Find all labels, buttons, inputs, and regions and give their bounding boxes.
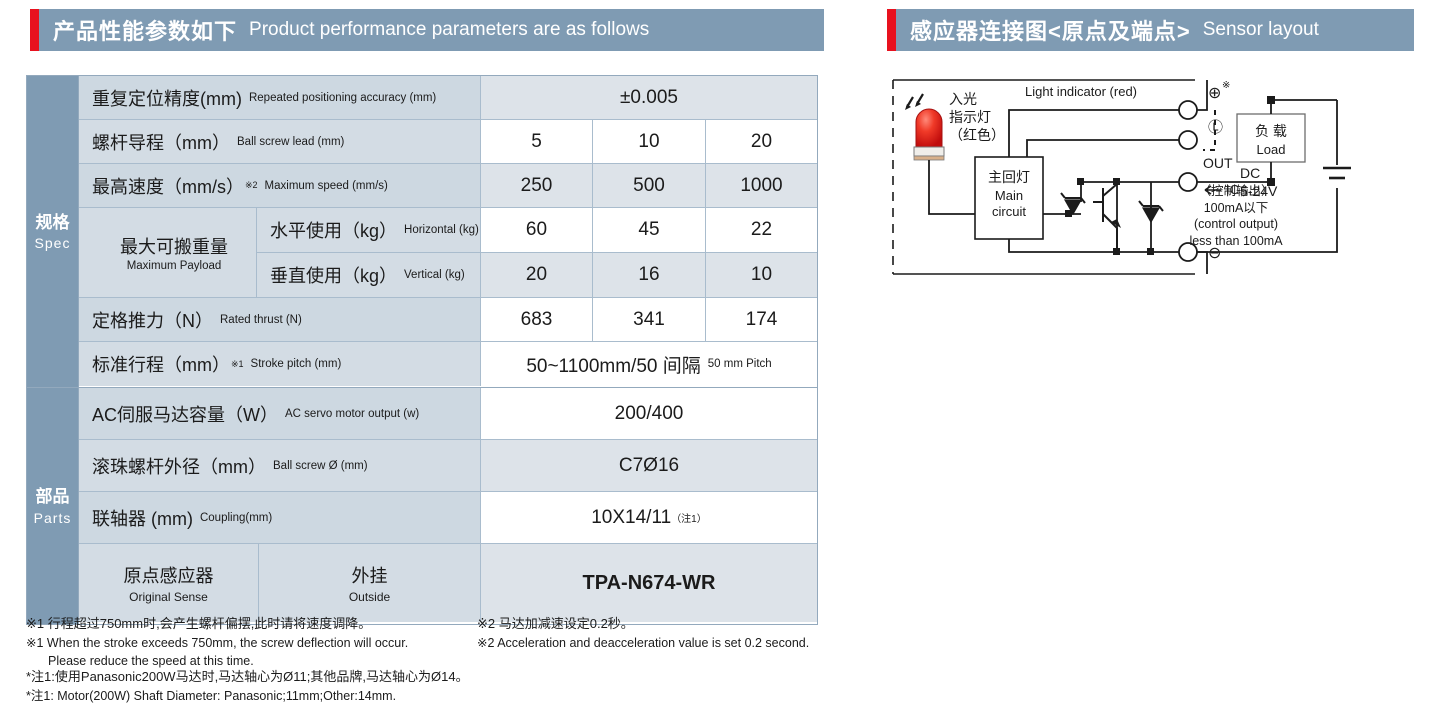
label-cn: 螺杆导程（mm） — [92, 129, 230, 155]
label-cn: 垂直使用（kg） — [270, 262, 397, 288]
table-row: 重复定位精度(mm) Repeated positioning accuracy… — [79, 76, 817, 120]
label-cn: 外挂 — [352, 562, 388, 588]
row-value-cell: 60 — [481, 208, 593, 253]
junction-dot — [1113, 178, 1120, 185]
label-cn: 定格推力（N） — [92, 307, 213, 333]
terminal-plus — [1179, 101, 1197, 119]
row-label-max-speed: 最高速度（mm/s）※2 Maximum speed (mm/s) — [79, 164, 481, 208]
row-value-cell: 20 — [706, 120, 817, 164]
row-value-cell: 174 — [706, 298, 817, 342]
control-note-line1: （控制输出） — [1173, 183, 1299, 200]
control-note-line3: (control output) — [1173, 216, 1299, 233]
row-value-cell: 20 — [481, 253, 593, 298]
label-en: Coupling(mm) — [200, 512, 272, 524]
section-label-parts-en: Parts — [34, 510, 72, 526]
row-value-cell: 250 — [481, 164, 593, 208]
row-value-cell: 10 — [706, 253, 817, 298]
load-label-en: Load — [1257, 142, 1286, 157]
table-row: 联轴器 (mm) Coupling(mm) 10X14/11（注1） — [79, 492, 817, 544]
label-cn: 标准行程（mm） — [92, 351, 230, 377]
row-label-coupling: 联轴器 (mm) Coupling(mm) — [79, 492, 481, 544]
red-accent-bar — [30, 9, 39, 51]
section-header-right: 感应器连接图<原点及端点> Sensor layout — [887, 9, 1414, 51]
section-header-right-en: Sensor layout — [1203, 19, 1319, 41]
light-indicator-label: Light indicator (red) — [1025, 84, 1137, 99]
sensor-circuit-diagram: 主回灯 Main circuit 入光 指示灯 （红色） Light indic… — [885, 62, 1355, 287]
section-header-right-cn: 感应器连接图<原点及端点> — [910, 14, 1191, 46]
label-cn: 滚珠螺杆外径（mm） — [92, 453, 266, 479]
terminal-l — [1179, 131, 1197, 149]
footnote-line: ※2 马达加减速设定0.2秒。 — [477, 615, 809, 634]
footnote-marker: ※2 — [245, 180, 258, 191]
row-label-stroke-pitch: 标准行程（mm）※1 Stroke pitch (mm) — [79, 342, 481, 386]
section-header-left-en: Product performance parameters are as fo… — [249, 19, 649, 41]
load-label-cn: 负 载 — [1255, 123, 1287, 139]
row-label-original-sense: 原点感应器 Original Sense — [79, 544, 259, 622]
table-row: 螺杆导程（mm） Ball screw lead (mm) 5 10 20 — [79, 120, 817, 164]
footnote-line: ※1 When the stroke exceeds 750mm, the sc… — [26, 634, 408, 652]
footnote-marker: ※1 — [231, 359, 244, 370]
spec-section: 规格 Spec 重复定位精度(mm) Repeated positioning … — [27, 76, 817, 387]
led-label-line3: （红色） — [949, 127, 1005, 143]
subrow-label-horizontal: 水平使用（kg） Horizontal (kg) — [257, 208, 481, 253]
control-note-line2: 100mA以下 — [1173, 200, 1299, 217]
section-label-spec: 规格 Spec — [27, 76, 79, 387]
dc-label-line1: DC — [1240, 165, 1277, 183]
value-cn: 50~1100mm/50 间隔 — [526, 351, 700, 378]
dc-source-icon — [1323, 168, 1351, 178]
control-note-line4: less than 100mA — [1173, 233, 1299, 250]
footnote-line: ※2 Acceleration and deacceleration value… — [477, 634, 809, 652]
section-label-spec-cn: 规格 — [36, 212, 70, 233]
label-en: Ball screw lead (mm) — [237, 136, 344, 148]
label-en: Original Sense — [129, 590, 208, 604]
row-value-cell: 500 — [593, 164, 706, 208]
parts-section: 部品 Parts AC伺服马达容量（W） AC servo motor outp… — [27, 387, 817, 624]
main-circuit-label-en2: circuit — [992, 204, 1026, 219]
row-value-ac-servo: 200/400 — [481, 388, 817, 440]
spec-table: 规格 Spec 重复定位精度(mm) Repeated positioning … — [26, 75, 818, 625]
subrow-label-vertical: 垂直使用（kg） Vertical (kg) — [257, 253, 481, 298]
section-label-parts: 部品 Parts — [27, 388, 79, 624]
row-label-ac-servo: AC伺服马达容量（W） AC servo motor output (w) — [79, 388, 481, 440]
row-value-ball-screw-dia: C7Ø16 — [481, 440, 817, 492]
junction-dot — [1113, 248, 1120, 255]
value-en: 50 mm Pitch — [708, 358, 772, 370]
row-value-sensor-model: TPA-N674-WR — [481, 544, 817, 622]
label-cn: 原点感应器 — [124, 562, 214, 588]
row-label-max-payload: 最大可搬重量 Maximum Payload — [79, 208, 257, 298]
junction-dot — [1065, 210, 1072, 217]
table-subrow-horizontal: 水平使用（kg） Horizontal (kg) 60 45 22 — [257, 208, 817, 253]
transistor-icon — [1093, 182, 1117, 252]
row-label-repeat-accuracy: 重复定位精度(mm) Repeated positioning accuracy… — [79, 76, 481, 120]
main-circuit-label-en1: Main — [995, 188, 1023, 203]
label-en: Outside — [349, 590, 390, 604]
led-label-line2: 指示灯 — [949, 109, 991, 125]
footnote-line: ※1 行程超过750mm时,会产生螺杆偏摆,此时请将速度调降。 — [26, 615, 408, 634]
footnote-block-right: ※2 马达加减速设定0.2秒。 ※2 Acceleration and deac… — [477, 615, 809, 652]
led-wire — [929, 160, 975, 214]
label-cn: AC伺服马达容量（W） — [92, 401, 278, 427]
row-value-cell: 16 — [593, 253, 706, 298]
table-row: 标准行程（mm）※1 Stroke pitch (mm) 50~1100mm/5… — [79, 342, 817, 386]
table-row-origin-sensor: 原点感应器 Original Sense 外挂 Outside TPA-N674… — [79, 544, 817, 622]
spec-sheet-page: 产品性能参数如下 Product performance parameters … — [0, 0, 1440, 727]
row-value-cell: 45 — [593, 208, 706, 253]
footnote-block-note1: *注1:使用Panasonic200W马达时,马达轴心为Ø11;其他品牌,马达轴… — [26, 668, 469, 705]
main-circuit-label-cn: 主回灯 — [988, 169, 1030, 185]
table-row: 最高速度（mm/s）※2 Maximum speed (mm/s) 250 50… — [79, 164, 817, 208]
value-main: 10X14/11 — [591, 507, 671, 529]
label-en: AC servo motor output (w) — [285, 408, 419, 420]
row-value-cell: 1000 — [706, 164, 817, 208]
label-cn: 最高速度（mm/s） — [92, 173, 244, 199]
table-row: 滚珠螺杆外径（mm） Ball screw Ø (mm) C7Ø16 — [79, 440, 817, 492]
row-value-cell: 10 — [593, 120, 706, 164]
row-label-outside: 外挂 Outside — [259, 544, 481, 622]
terminal-plus-symbol: ⊕ — [1208, 83, 1221, 102]
section-label-parts-cn: 部品 — [36, 486, 70, 507]
footnote-block-left: ※1 行程超过750mm时,会产生螺杆偏摆,此时请将速度调降。 ※1 When … — [26, 615, 408, 670]
label-en: Maximum speed (mm/s) — [265, 180, 388, 192]
terminal-plus-footnote: ※ — [1222, 80, 1230, 91]
label-cn: 水平使用（kg） — [270, 217, 397, 243]
label-en: Stroke pitch (mm) — [251, 358, 342, 370]
footnote-marker: （注1） — [671, 510, 707, 525]
red-accent-bar-right — [887, 9, 896, 51]
label-en: Repeated positioning accuracy (mm) — [249, 92, 436, 104]
row-value-cell: 341 — [593, 298, 706, 342]
label-en: Vertical (kg) — [404, 269, 465, 281]
label-en: Ball screw Ø (mm) — [273, 460, 368, 472]
section-header-left-cn: 产品性能参数如下 — [53, 14, 237, 46]
label-cn: 重复定位精度(mm) — [92, 85, 242, 111]
footnote-line: *注1: Motor(200W) Shaft Diameter: Panason… — [26, 687, 469, 705]
junction-dot — [1267, 96, 1275, 104]
table-subrow-vertical: 垂直使用（kg） Vertical (kg) 20 16 10 — [257, 253, 817, 298]
terminal-out-label: OUT — [1203, 155, 1233, 171]
label-cn: 最大可搬重量 — [120, 233, 228, 259]
table-row-payload: 最大可搬重量 Maximum Payload 水平使用（kg） Horizont… — [79, 208, 817, 298]
row-value-cell: 5 — [481, 120, 593, 164]
footnote-line: *注1:使用Panasonic200W马达时,马达轴心为Ø11;其他品牌,马达轴… — [26, 668, 469, 687]
control-output-note: （控制输出） 100mA以下 (control output) less tha… — [1173, 183, 1299, 249]
row-label-screw-lead: 螺杆导程（mm） Ball screw lead (mm) — [79, 120, 481, 164]
table-row: 定格推力（N） Rated thrust (N) 683 341 174 — [79, 298, 817, 342]
section-header-left: 产品性能参数如下 Product performance parameters … — [30, 9, 824, 51]
label-cn: 联轴器 (mm) — [92, 505, 193, 531]
table-row: AC伺服马达容量（W） AC servo motor output (w) 20… — [79, 388, 817, 440]
row-label-rated-thrust: 定格推力（N） Rated thrust (N) — [79, 298, 481, 342]
label-en: Rated thrust (N) — [220, 314, 302, 326]
led-label-line1: 入光 — [949, 91, 977, 107]
row-value-repeat-accuracy: ±0.005 — [481, 76, 817, 120]
row-value-stroke-pitch: 50~1100mm/50 间隔 50 mm Pitch — [481, 342, 817, 386]
row-value-cell: 683 — [481, 298, 593, 342]
row-value-cell: 22 — [706, 208, 817, 253]
junction-dot — [1147, 248, 1154, 255]
section-label-spec-en: Spec — [35, 235, 71, 251]
led-indicator-icon — [905, 94, 944, 160]
junction-dot — [1077, 178, 1084, 185]
label-en: Horizontal (kg) — [404, 224, 479, 236]
row-label-ball-screw-dia: 滚珠螺杆外径（mm） Ball screw Ø (mm) — [79, 440, 481, 492]
row-value-coupling: 10X14/11（注1） — [481, 492, 817, 544]
label-en: Maximum Payload — [127, 260, 222, 272]
